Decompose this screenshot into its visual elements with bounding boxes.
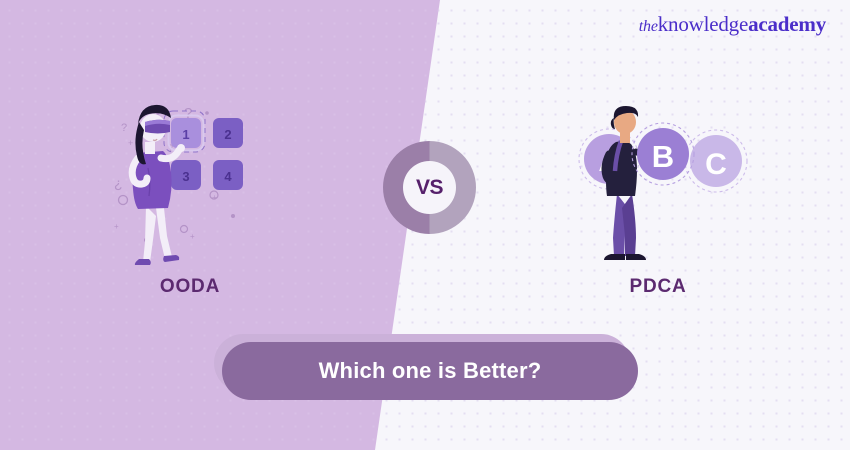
svg-text:¿: ¿: [114, 175, 123, 191]
woman-vr-tiles-graphic: ? ? ? ¿ + + + + + +: [112, 96, 282, 266]
svg-text:+: +: [190, 232, 195, 241]
left-option-label: OODA: [110, 276, 270, 298]
letter-circle-c: C: [685, 130, 747, 192]
letter-circle-b: B: [632, 123, 694, 185]
svg-text:+: +: [114, 222, 119, 231]
svg-text:C: C: [705, 148, 727, 181]
svg-text:?: ?: [121, 122, 127, 134]
which-one-is-better-button[interactable]: Which one is Better?: [222, 342, 638, 400]
svg-text:3: 3: [182, 169, 189, 184]
svg-text:B: B: [652, 139, 674, 174]
svg-text:2: 2: [224, 127, 231, 142]
ooda-illustration: ? ? ? ¿ + + + + + +: [112, 96, 282, 266]
vs-badge-inner: VS: [403, 161, 456, 214]
man-figure: [604, 106, 656, 260]
brand-logo: theknowledgeacademy: [639, 14, 826, 35]
svg-text:1: 1: [182, 127, 189, 142]
man-lettered-circles-graphic: A C: [566, 104, 756, 264]
right-option-label: PDCA: [578, 276, 738, 298]
logo-word-academy: academy: [748, 12, 826, 36]
logo-word-the: the: [639, 18, 658, 35]
vs-badge-label: VS: [416, 176, 443, 200]
comparison-infographic: theknowledgeacademy ? ? ? ¿ + + + + + +: [0, 0, 850, 450]
logo-word-knowledge: knowledge: [658, 12, 748, 36]
svg-text:+: +: [212, 193, 217, 202]
pdca-illustration: A C: [566, 104, 756, 264]
cta-button-label: Which one is Better?: [319, 358, 542, 384]
svg-text:4: 4: [224, 169, 232, 184]
svg-text:+: +: [128, 138, 133, 148]
vs-badge: VS: [383, 141, 476, 234]
